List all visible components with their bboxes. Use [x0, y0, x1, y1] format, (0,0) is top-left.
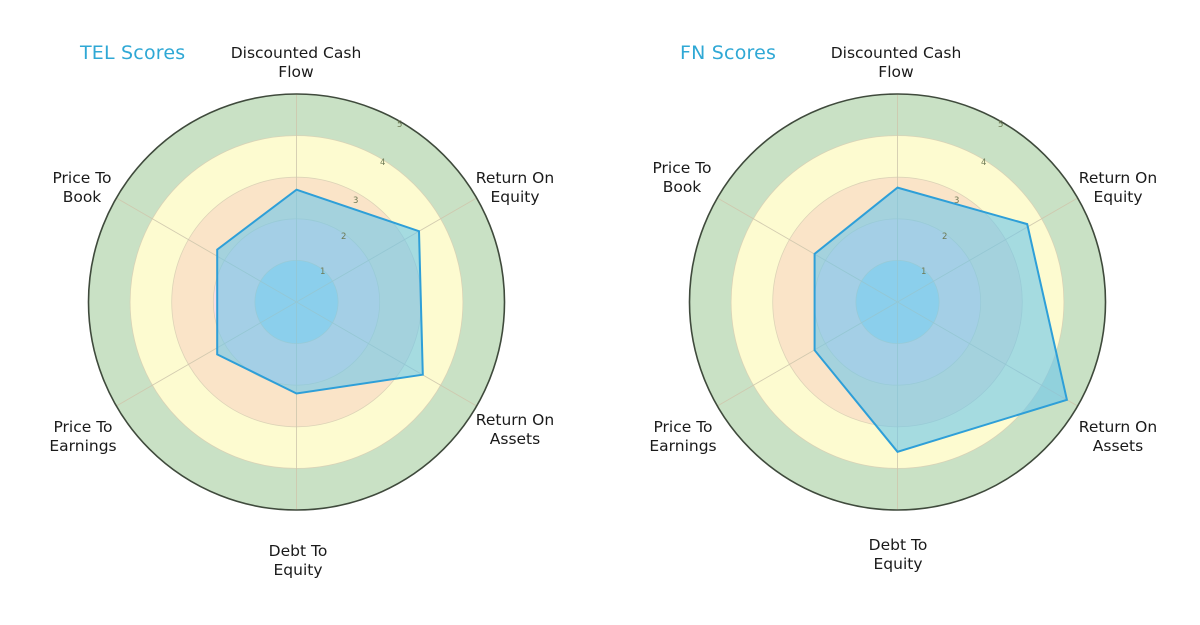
axis-label-price-to-book: Price To Book [22, 169, 142, 207]
rtick-4: 4 [380, 158, 385, 168]
rtick-3: 3 [954, 196, 959, 206]
panel-fn: FN Scores [600, 0, 1200, 625]
axis-label-debt-to-equity: Debt To Equity [238, 542, 358, 580]
rtick-2: 2 [341, 232, 346, 242]
axis-label-return-on-equity: Return On Equity [1063, 169, 1173, 207]
radar-plot-fn: 1 2 3 4 5 [600, 0, 1200, 625]
axis-label-debt-to-equity: Debt To Equity [838, 536, 958, 574]
axis-label-discounted-cash-flow: Discounted Cash Flow [826, 44, 966, 82]
axis-label-discounted-cash-flow: Discounted Cash Flow [226, 44, 366, 82]
rtick-3: 3 [353, 196, 358, 206]
axis-label-return-on-assets: Return On Assets [460, 411, 570, 449]
radar-chart-figure: TEL Scores [0, 0, 1200, 625]
radar-plot-tel: 1 2 3 4 5 [0, 0, 600, 625]
axis-label-return-on-assets: Return On Assets [1063, 418, 1173, 456]
axis-label-price-to-earnings: Price To Earnings [18, 418, 148, 456]
rtick-1: 1 [921, 267, 926, 277]
panel-tel: TEL Scores [0, 0, 600, 625]
axis-label-price-to-earnings: Price To Earnings [618, 418, 748, 456]
rtick-1: 1 [320, 267, 325, 277]
rtick-4: 4 [981, 158, 986, 168]
axis-label-return-on-equity: Return On Equity [460, 169, 570, 207]
rtick-5: 5 [998, 120, 1003, 130]
rtick-5: 5 [397, 120, 402, 130]
axis-label-price-to-book: Price To Book [622, 159, 742, 197]
rtick-2: 2 [942, 232, 947, 242]
